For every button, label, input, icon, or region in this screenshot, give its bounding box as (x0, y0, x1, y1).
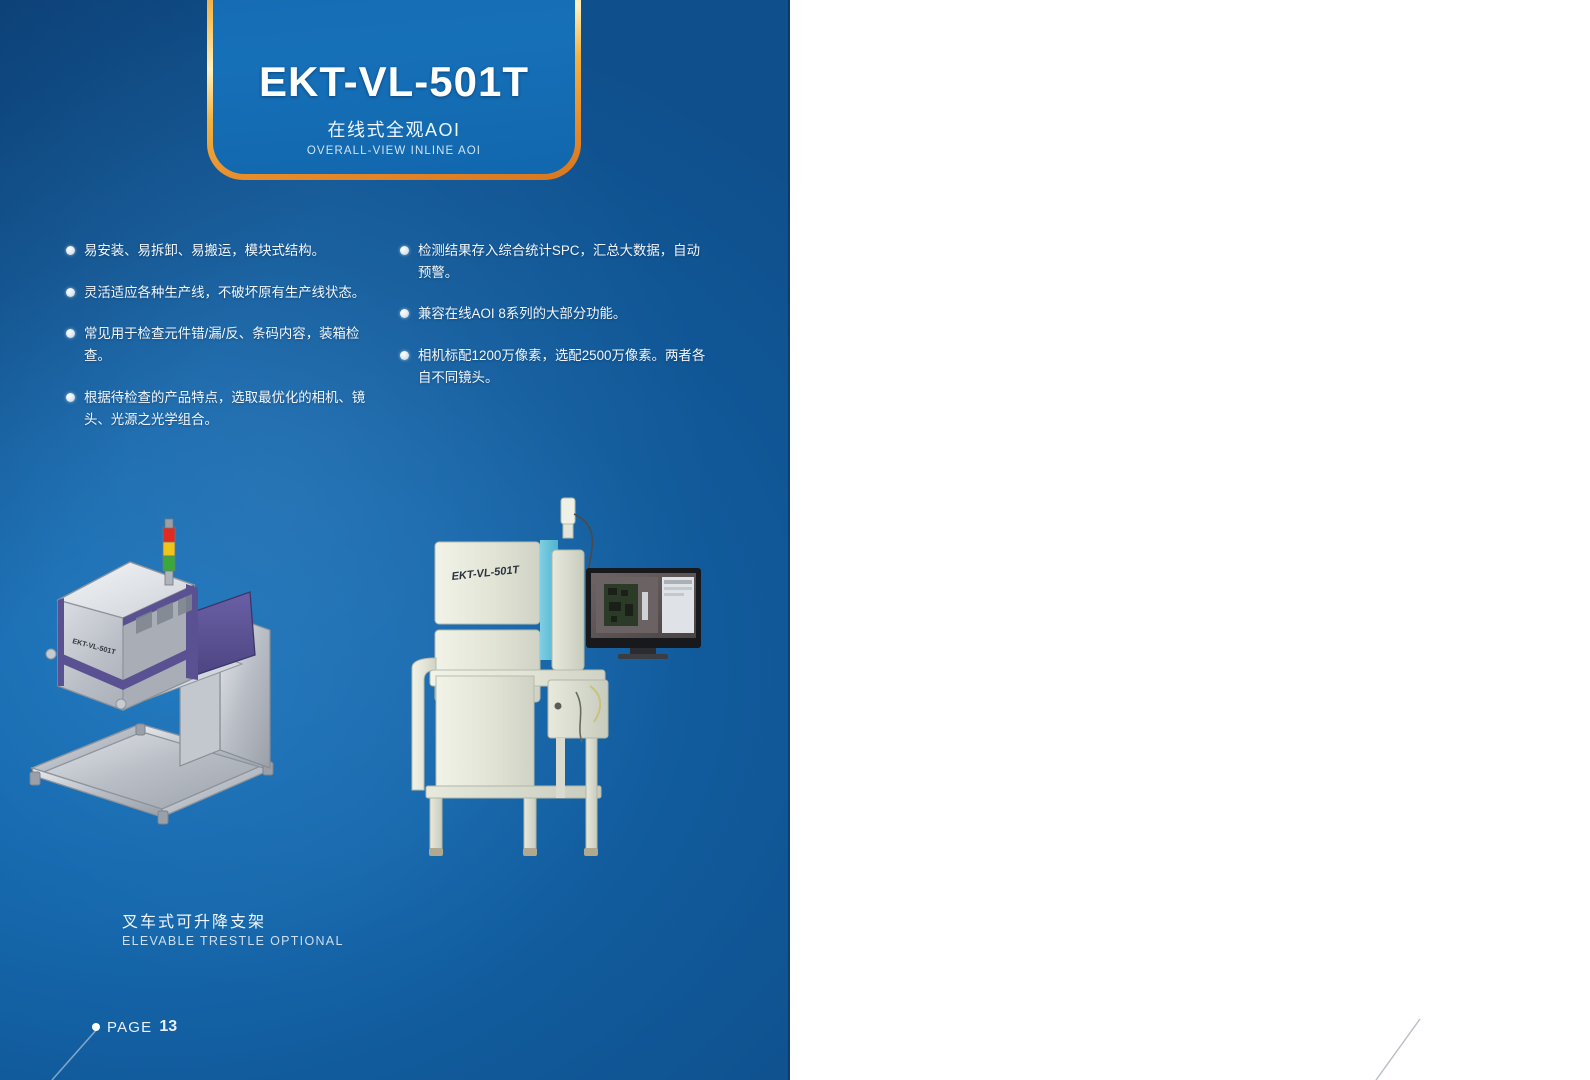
feature-text: 常见用于检查元件错/漏/反、条码内容，装箱检查。 (84, 323, 376, 366)
feature-list: 易安装、易拆卸、易搬运，模块式结构。 灵活适应各种生产线，不破坏原有生产线状态。… (66, 240, 726, 450)
bullet-dot-icon (66, 329, 75, 338)
page-number-left: PAGE 13 (92, 1018, 177, 1036)
caption-en: ELEVABLE TRESTLE OPTIONAL (122, 934, 344, 948)
brochure-spread: EKT-VL-501T 在线式全观AOI OVERALL-VIEW INLINE… (0, 0, 1590, 1080)
machine-photo-render: EKT-VL-501T (412, 498, 701, 856)
feature-item: 相机标配1200万像素，选配2500万像素。两者各自不同镜头。 (400, 345, 710, 388)
bullet-dot-icon (400, 309, 409, 318)
feature-text: 检测结果存入综合统计SPC，汇总大数据，自动预警。 (418, 240, 710, 283)
page-value: 13 (159, 1018, 177, 1036)
feature-item: 兼容在线AOI 8系列的大部分功能。 (400, 303, 710, 325)
bullet-dot-icon (66, 246, 75, 255)
machine-cad-render: EKT-VL-501T (30, 519, 273, 824)
feature-item: 常见用于检查元件错/漏/反、条码内容，装箱检查。 (66, 323, 376, 366)
page-bullet-icon (92, 1023, 100, 1031)
bullet-dot-icon (66, 288, 75, 297)
product-title-block: EKT-VL-501T 在线式全观AOI OVERALL-VIEW INLINE… (207, 0, 581, 180)
feature-text: 易安装、易拆卸、易搬运，模块式结构。 (84, 240, 325, 262)
feature-text: 灵活适应各种生产线，不破坏原有生产线状态。 (84, 282, 365, 304)
product-subtitle-cn: 在线式全观AOI (327, 116, 460, 142)
bullet-dot-icon (400, 351, 409, 360)
product-illustrations: EKT-VL-501T (0, 470, 790, 900)
feature-item: 灵活适应各种生产线，不破坏原有生产线状态。 (66, 282, 376, 304)
feature-item: 根据待检查的产品特点，选取最优化的相机、镜头、光源之光学组合。 (66, 387, 376, 430)
feature-item: 检测结果存入综合统计SPC，汇总大数据，自动预警。 (400, 240, 710, 283)
right-page: TECHNICAL PARAMETERS OF EQUIPMENT 设备技术参数… (790, 0, 1590, 1080)
feature-text: 相机标配1200万像素，选配2500万像素。两者各自不同镜头。 (418, 345, 710, 388)
bullet-dot-icon (66, 393, 75, 402)
bullet-dot-icon (400, 246, 409, 255)
product-code: EKT-VL-501T (259, 58, 529, 106)
feature-item: 易安装、易拆卸、易搬运，模块式结构。 (66, 240, 376, 262)
corner-accent-line-right (1370, 1005, 1460, 1080)
photo-caption: 叉车式可升降支架 ELEVABLE TRESTLE OPTIONAL (122, 908, 344, 948)
feature-text: 根据待检查的产品特点，选取最优化的相机、镜头、光源之光学组合。 (84, 387, 376, 430)
feature-column-left: 易安装、易拆卸、易搬运，模块式结构。 灵活适应各种生产线，不破坏原有生产线状态。… (66, 240, 376, 450)
page-label: PAGE (107, 1019, 152, 1036)
feature-text: 兼容在线AOI 8系列的大部分功能。 (418, 303, 626, 325)
monitor (586, 568, 701, 659)
caption-cn: 叉车式可升降支架 (122, 908, 344, 932)
feature-column-right: 检测结果存入综合统计SPC，汇总大数据，自动预警。 兼容在线AOI 8系列的大部… (400, 240, 710, 450)
product-photo-stage: EKT-VL-501T (0, 470, 790, 900)
product-subtitle-en: OVERALL-VIEW INLINE AOI (307, 145, 481, 157)
left-page: EKT-VL-501T 在线式全观AOI OVERALL-VIEW INLINE… (0, 0, 790, 1080)
